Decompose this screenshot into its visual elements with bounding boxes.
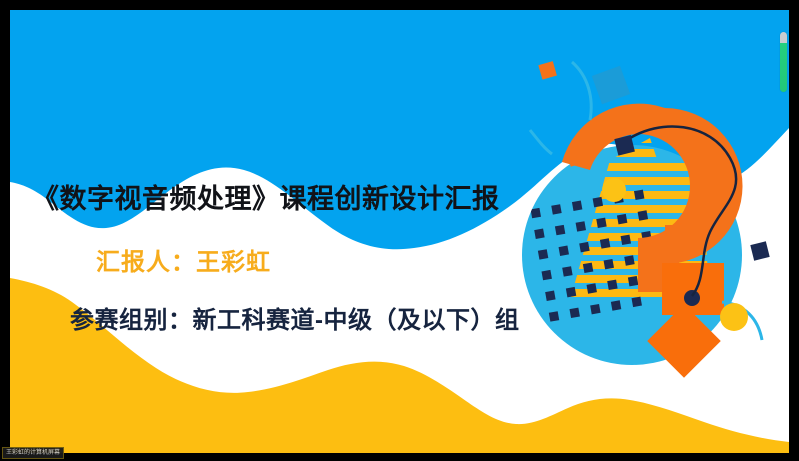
scrollbar-track[interactable] — [780, 20, 787, 450]
video-frame: 《数字视音频处理》课程创新设计汇报 汇报人：王彩虹 参赛组别：新工科赛道-中级（… — [0, 0, 799, 461]
slide-text-block: 《数字视音频处理》课程创新设计汇报 汇报人：王彩虹 参赛组别：新工科赛道-中级（… — [10, 170, 570, 360]
orange-small-square-top — [538, 61, 557, 80]
question-ring — [562, 104, 743, 292]
yellow-node-circle — [602, 178, 626, 202]
orange-diamond-bottom — [647, 304, 721, 378]
navy-square-wire — [614, 135, 635, 156]
orange-small-square-left — [566, 148, 585, 167]
yellow-circle-right — [720, 303, 748, 331]
question-base — [665, 225, 679, 295]
blue-arc-left — [530, 130, 552, 154]
question-dot-box — [662, 263, 724, 315]
slide-title: 《数字视音频处理》课程创新设计汇报 — [32, 177, 552, 216]
slide-group: 参赛组别：新工科赛道-中级（及以下）组 — [70, 300, 520, 335]
slide-presenter: 汇报人：王彩虹 — [96, 242, 271, 277]
screen-recording-watermark: 王彩虹的计算机屏幕 — [2, 447, 64, 459]
scrollbar-thumb[interactable] — [780, 32, 787, 92]
blue-arc-right — [722, 302, 762, 340]
blue-arc-top — [572, 62, 591, 120]
question-dot — [684, 290, 700, 306]
navy-square-right — [750, 241, 769, 260]
presentation-slide: 《数字视音频处理》课程创新设计汇报 汇报人：王彩虹 参赛组别：新工科赛道-中级（… — [10, 10, 789, 453]
blue-square-top — [592, 66, 630, 104]
yellow-stripes — [555, 136, 725, 297]
dark-wire-curve — [627, 126, 736, 296]
